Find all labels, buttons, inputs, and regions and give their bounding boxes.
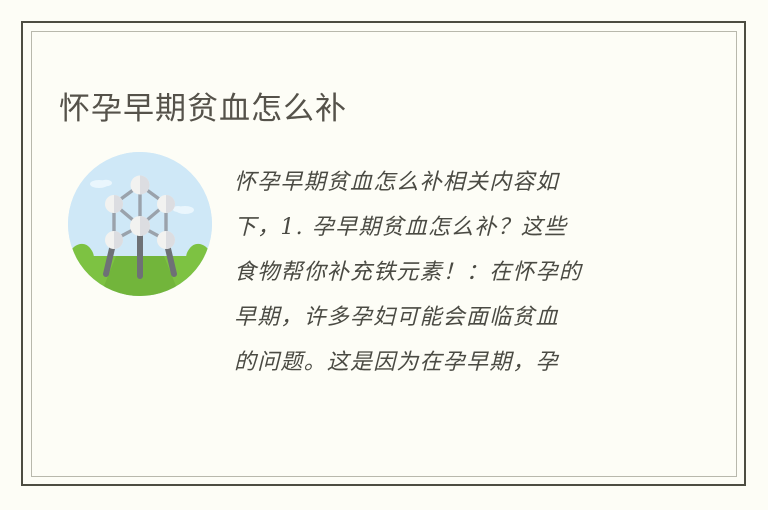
- article-line: 下，1. 孕早期贫血怎么补？这些: [234, 205, 654, 250]
- article-line: 怀孕早期贫血怎么补相关内容如: [234, 160, 654, 205]
- article-line: 食物帮你补充铁元素！：在怀孕的: [234, 250, 654, 295]
- atomium-monument-icon: [68, 152, 212, 296]
- article-line: 早期，许多孕妇可能会面临贫血: [234, 295, 654, 340]
- article-line: 的问题。这是因为在孕早期，孕: [234, 340, 654, 385]
- page-title: 怀孕早期贫血怎么补: [59, 87, 347, 131]
- article-thumbnail[interactable]: [68, 152, 212, 296]
- article-paragraph: 怀孕早期贫血怎么补相关内容如 下，1. 孕早期贫血怎么补？这些 食物帮你补充铁元…: [234, 160, 654, 385]
